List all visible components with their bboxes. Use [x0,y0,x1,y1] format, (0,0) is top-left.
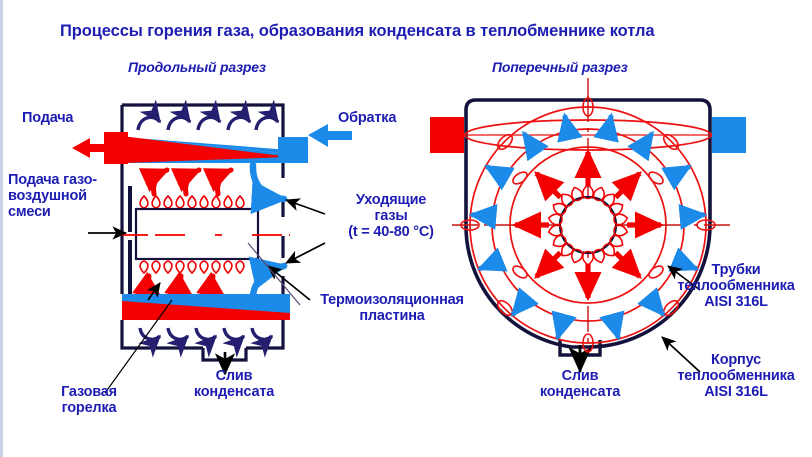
return-pipe-blue [278,137,308,163]
arrow-to-flue-upper [286,200,325,214]
label-gas-burner: Газовая горелка [30,384,148,416]
combustion-falling-arrows [149,276,224,297]
page-title: Процессы горения газа, образования конде… [60,22,654,40]
arrow-to-flue-lower [286,243,325,263]
left-section-caption: Продольный разрез [128,60,266,76]
label-return: Обратка [338,110,396,126]
lower-flames [140,261,244,273]
cross-return-block-blue [712,117,746,153]
condensate-swirl-arrows [140,328,272,339]
label-gas-air-mix: Подача газо- воздушной смеси [8,172,97,221]
label-condensate-drain-right: Слив конденсата [524,368,636,400]
right-section-caption: Поперечный разрез [492,60,628,76]
lower-heat-exchange-wedge [122,294,290,320]
diagram-canvas: Процессы горения газа, образования конде… [0,0,812,457]
cross-supply-block-red [430,117,464,153]
upper-heat-exchange-wedge [122,136,290,163]
return-arrow-blue [308,124,352,147]
upper-return-swirl-arrows [138,117,278,130]
label-supply: Подача [22,110,73,126]
label-exchanger-tubes: Трубки теплообменника AISI 316L [660,262,812,311]
gas-burner-box [136,209,258,259]
upper-flames [140,196,244,208]
label-condensate-drain-left: Слив конденсата [178,368,290,400]
combustion-rising-arrows [154,170,231,194]
label-exchanger-body: Корпус теплообменника AISI 316L [660,352,812,401]
label-thermal-plate: Термоизоляционная пластина [292,292,492,324]
label-flue-gases: Уходящие газы (t = 40-80 °C) [325,192,457,241]
